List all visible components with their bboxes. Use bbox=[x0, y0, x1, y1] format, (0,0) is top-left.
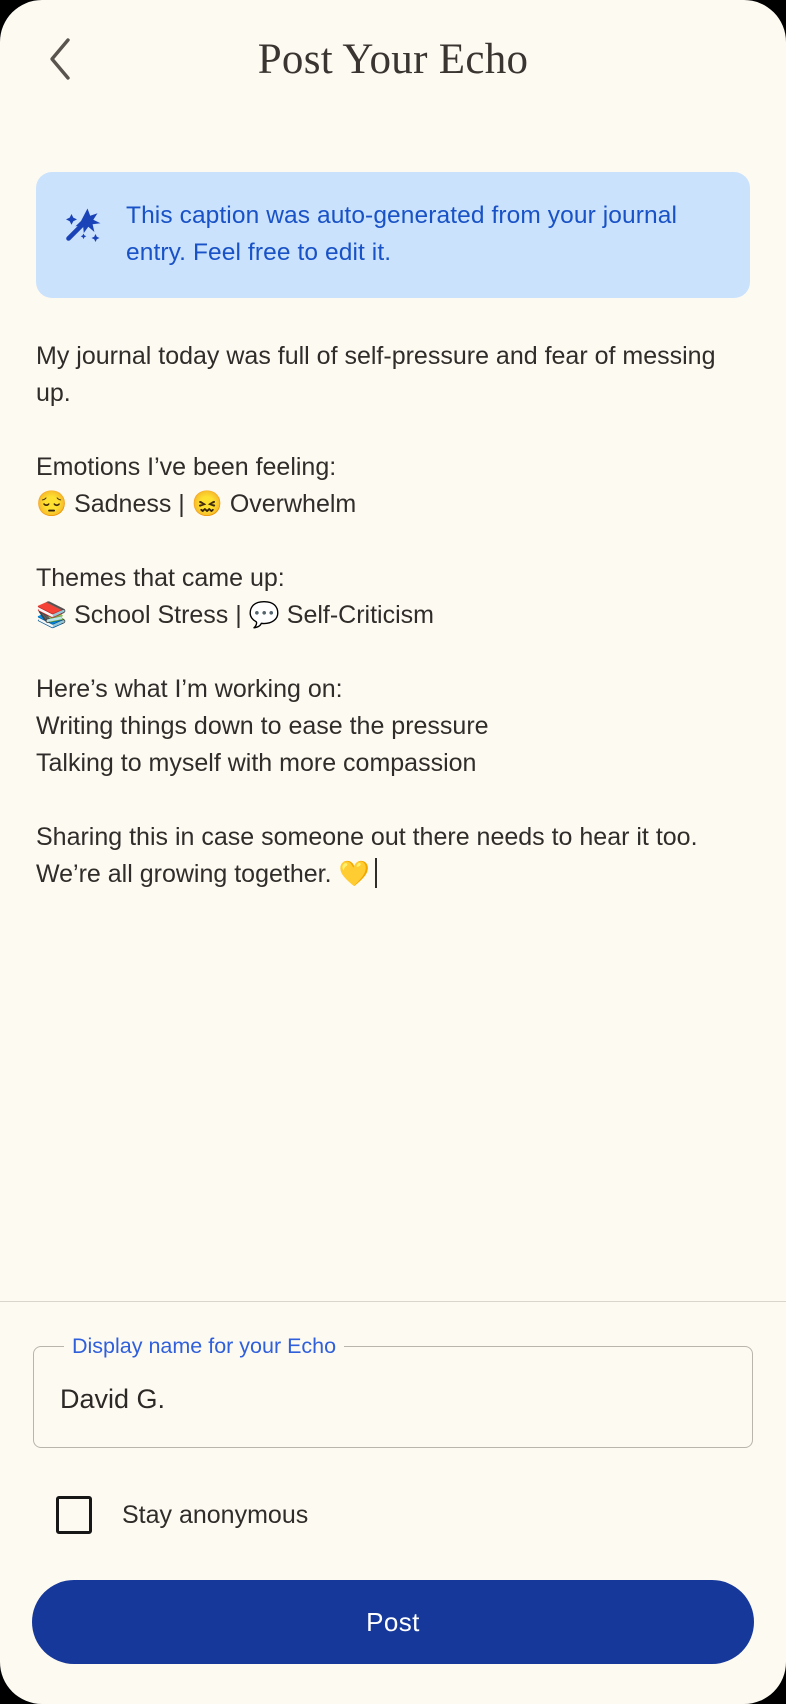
display-name-input[interactable]: David G. bbox=[48, 1384, 738, 1421]
phone-screen: Post Your Echo This caption was auto-gen… bbox=[0, 0, 786, 1704]
display-name-field[interactable]: Display name for your Echo David G. bbox=[33, 1336, 753, 1448]
banner-text: This caption was auto-generated from you… bbox=[126, 197, 722, 271]
back-button[interactable] bbox=[36, 35, 84, 83]
text-cursor bbox=[375, 858, 377, 888]
stay-anonymous-checkbox[interactable] bbox=[56, 1496, 92, 1534]
caption-textarea[interactable]: My journal today was full of self-pressu… bbox=[36, 338, 750, 893]
stay-anonymous-label: Stay anonymous bbox=[122, 1501, 308, 1530]
stay-anonymous-row[interactable]: Stay anonymous bbox=[32, 1496, 754, 1534]
caption-text: My journal today was full of self-pressu… bbox=[36, 342, 722, 888]
post-button[interactable]: Post bbox=[32, 1580, 754, 1664]
magic-wand-sparkle-icon bbox=[62, 203, 104, 245]
app-header: Post Your Echo bbox=[0, 0, 786, 118]
chevron-left-icon bbox=[47, 37, 73, 81]
display-name-outline: Display name for your Echo David G. bbox=[33, 1336, 753, 1448]
display-name-label: Display name for your Echo bbox=[64, 1336, 344, 1358]
compose-footer: Display name for your Echo David G. Stay… bbox=[0, 1301, 786, 1704]
compose-content: This caption was auto-generated from you… bbox=[0, 118, 786, 1301]
auto-generated-banner: This caption was auto-generated from you… bbox=[36, 172, 750, 298]
page-title: Post Your Echo bbox=[258, 38, 529, 81]
